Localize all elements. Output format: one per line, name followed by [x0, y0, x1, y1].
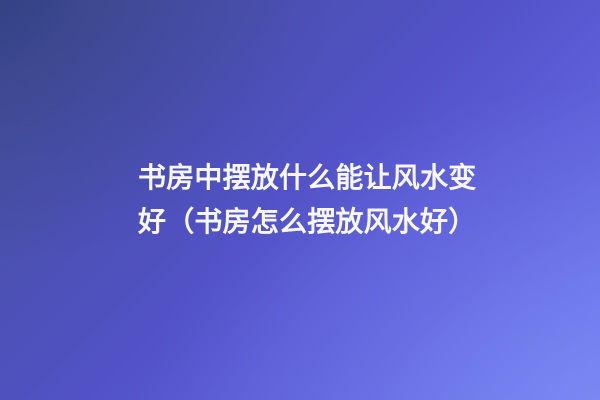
page-title-line-2: 好（书房怎么摆放风水好）	[138, 200, 478, 244]
page-title-line-1: 书房中摆放什么能让风水变	[138, 156, 478, 200]
article-thumbnail-banner: 书房中摆放什么能让风水变 好（书房怎么摆放风水好）	[0, 0, 600, 400]
page-title: 书房中摆放什么能让风水变 好（书房怎么摆放风水好）	[138, 156, 478, 244]
